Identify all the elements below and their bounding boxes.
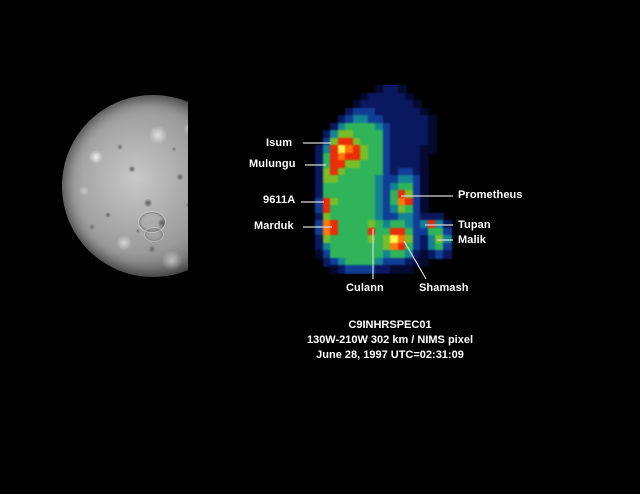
hotspot-label-culann: Culann: [346, 282, 384, 294]
nims-heatmap-canvas: [300, 85, 460, 275]
hotspot-label-9611a: 9611A: [263, 194, 295, 206]
figure-canvas: IsumMulungu9611AMardukPrometheusTupanMal…: [0, 0, 640, 494]
io-visible-image: [62, 95, 188, 277]
io-nims-thermal-map: [300, 85, 460, 275]
caption-datetime: June 28, 1997 UTC=02:31:09: [270, 348, 510, 363]
caption-resolution: 130W-210W 302 km / NIMS pixel: [270, 333, 510, 348]
hotspot-label-prometheus: Prometheus: [458, 189, 523, 201]
hotspot-label-mulungu: Mulungu: [249, 158, 296, 170]
caption-block: C9INHRSPEC01 130W-210W 302 km / NIMS pix…: [270, 318, 510, 363]
hotspot-label-shamash: Shamash: [419, 282, 469, 294]
hotspot-label-malik: Malik: [458, 234, 486, 246]
hotspot-label-marduk: Marduk: [254, 220, 294, 232]
hotspot-label-isum: Isum: [266, 137, 292, 149]
io-limb-shading: [62, 95, 188, 277]
hotspot-label-tupan: Tupan: [458, 219, 491, 231]
caption-observation-id: C9INHRSPEC01: [270, 318, 510, 333]
